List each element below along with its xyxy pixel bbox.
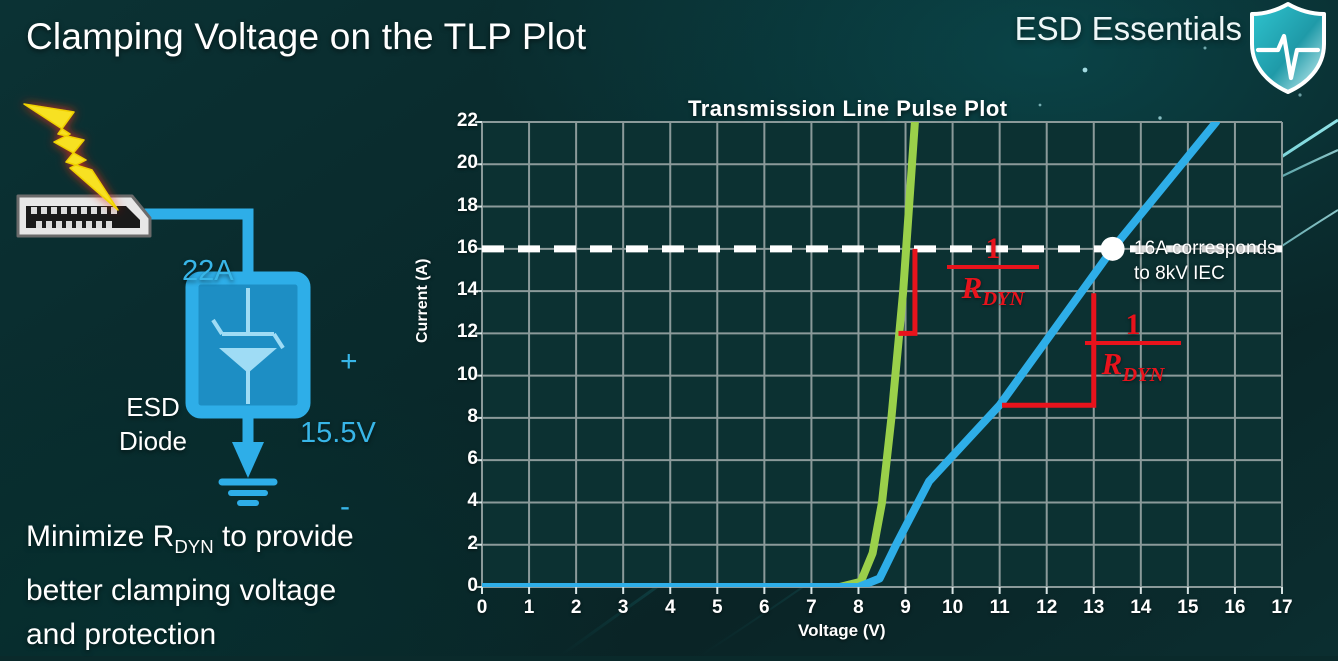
slope-label-numerator: 1 <box>945 234 1041 264</box>
polarity-plus-label: + <box>340 345 358 379</box>
current-label: 22A <box>182 255 234 288</box>
chart-x-tick: 15 <box>1173 597 1203 619</box>
page-title: Clamping Voltage on the TLP Plot <box>26 16 586 58</box>
slope-denominator-sub: DYN <box>982 288 1024 310</box>
brand-title: ESD Essentials <box>1015 10 1242 48</box>
chart-x-tick: 8 <box>843 597 873 619</box>
shield-pulse-icon <box>1244 0 1332 96</box>
lightning-bolt-icon <box>24 104 118 210</box>
chart-x-tick: 14 <box>1126 597 1156 619</box>
slope-denominator-base: R <box>1102 346 1123 381</box>
fraction-bar <box>1085 341 1181 345</box>
esd-circuit-diagram: 22A 15.5V + - ESD Diode <box>0 90 430 510</box>
marker-annotation-line1: 16A corresponds <box>1134 236 1277 261</box>
marker-annotation-line2: to 8kV IEC <box>1134 261 1277 286</box>
chart-x-tick: 0 <box>467 597 497 619</box>
chart-x-tick: 11 <box>985 597 1015 619</box>
chart-x-tick: 12 <box>1032 597 1062 619</box>
chart-x-tick: 3 <box>608 597 638 619</box>
bottom-note-line1: Minimize RDYN to provide <box>26 515 446 569</box>
esd-diode-label-line2: Diode <box>98 424 208 458</box>
chart-x-tick: 16 <box>1220 597 1250 619</box>
bottom-note: Minimize RDYN to provide better clamping… <box>26 515 446 657</box>
fraction-bar <box>947 265 1039 269</box>
slope-denominator-sub: DYN <box>1122 364 1164 386</box>
bottom-note-line1-post: to provide <box>214 520 354 553</box>
chart-x-tick: 17 <box>1267 597 1297 619</box>
slope-label-denominator: RDYN <box>1083 347 1183 392</box>
chart-x-tick: 6 <box>749 597 779 619</box>
chart-x-tick: 10 <box>938 597 968 619</box>
slope-label-numerator: 1 <box>1083 310 1183 340</box>
slope-label-low-rdyn: 1 RDYN <box>945 234 1041 316</box>
tvs-diode-icon <box>192 278 304 412</box>
bottom-note-line1-sub: DYN <box>174 536 213 557</box>
bottom-note-line2: better clamping voltage <box>26 569 446 613</box>
esd-diode-label-line1: ESD <box>98 390 208 424</box>
slope-label-denominator: RDYN <box>945 271 1041 316</box>
bottom-note-line1-pre: Minimize R <box>26 520 174 553</box>
chart-x-tick: 4 <box>655 597 685 619</box>
chart-x-tick: 2 <box>561 597 591 619</box>
chart-x-tick-labels: 01234567891011121314151617 <box>418 88 1338 656</box>
marker-annotation: 16A corresponds to 8kV IEC <box>1134 236 1277 286</box>
hdmi-connector-icon <box>18 196 150 236</box>
voltage-label: 15.5V <box>300 417 376 450</box>
slide-canvas: Clamping Voltage on the TLP Plot ESD Ess… <box>0 0 1338 656</box>
chart-x-tick: 5 <box>702 597 732 619</box>
chart-x-tick: 7 <box>796 597 826 619</box>
chart-x-tick: 13 <box>1079 597 1109 619</box>
slope-label-high-rdyn: 1 RDYN <box>1083 310 1183 392</box>
esd-diode-label: ESD Diode <box>98 390 208 458</box>
chart-x-tick: 1 <box>514 597 544 619</box>
bottom-note-line3: and protection <box>26 613 446 657</box>
tlp-chart: Transmission Line Pulse Plot Current (A)… <box>418 88 1338 656</box>
chart-x-tick: 9 <box>891 597 921 619</box>
ground-symbol-icon <box>222 482 274 503</box>
slope-denominator-base: R <box>962 270 983 305</box>
